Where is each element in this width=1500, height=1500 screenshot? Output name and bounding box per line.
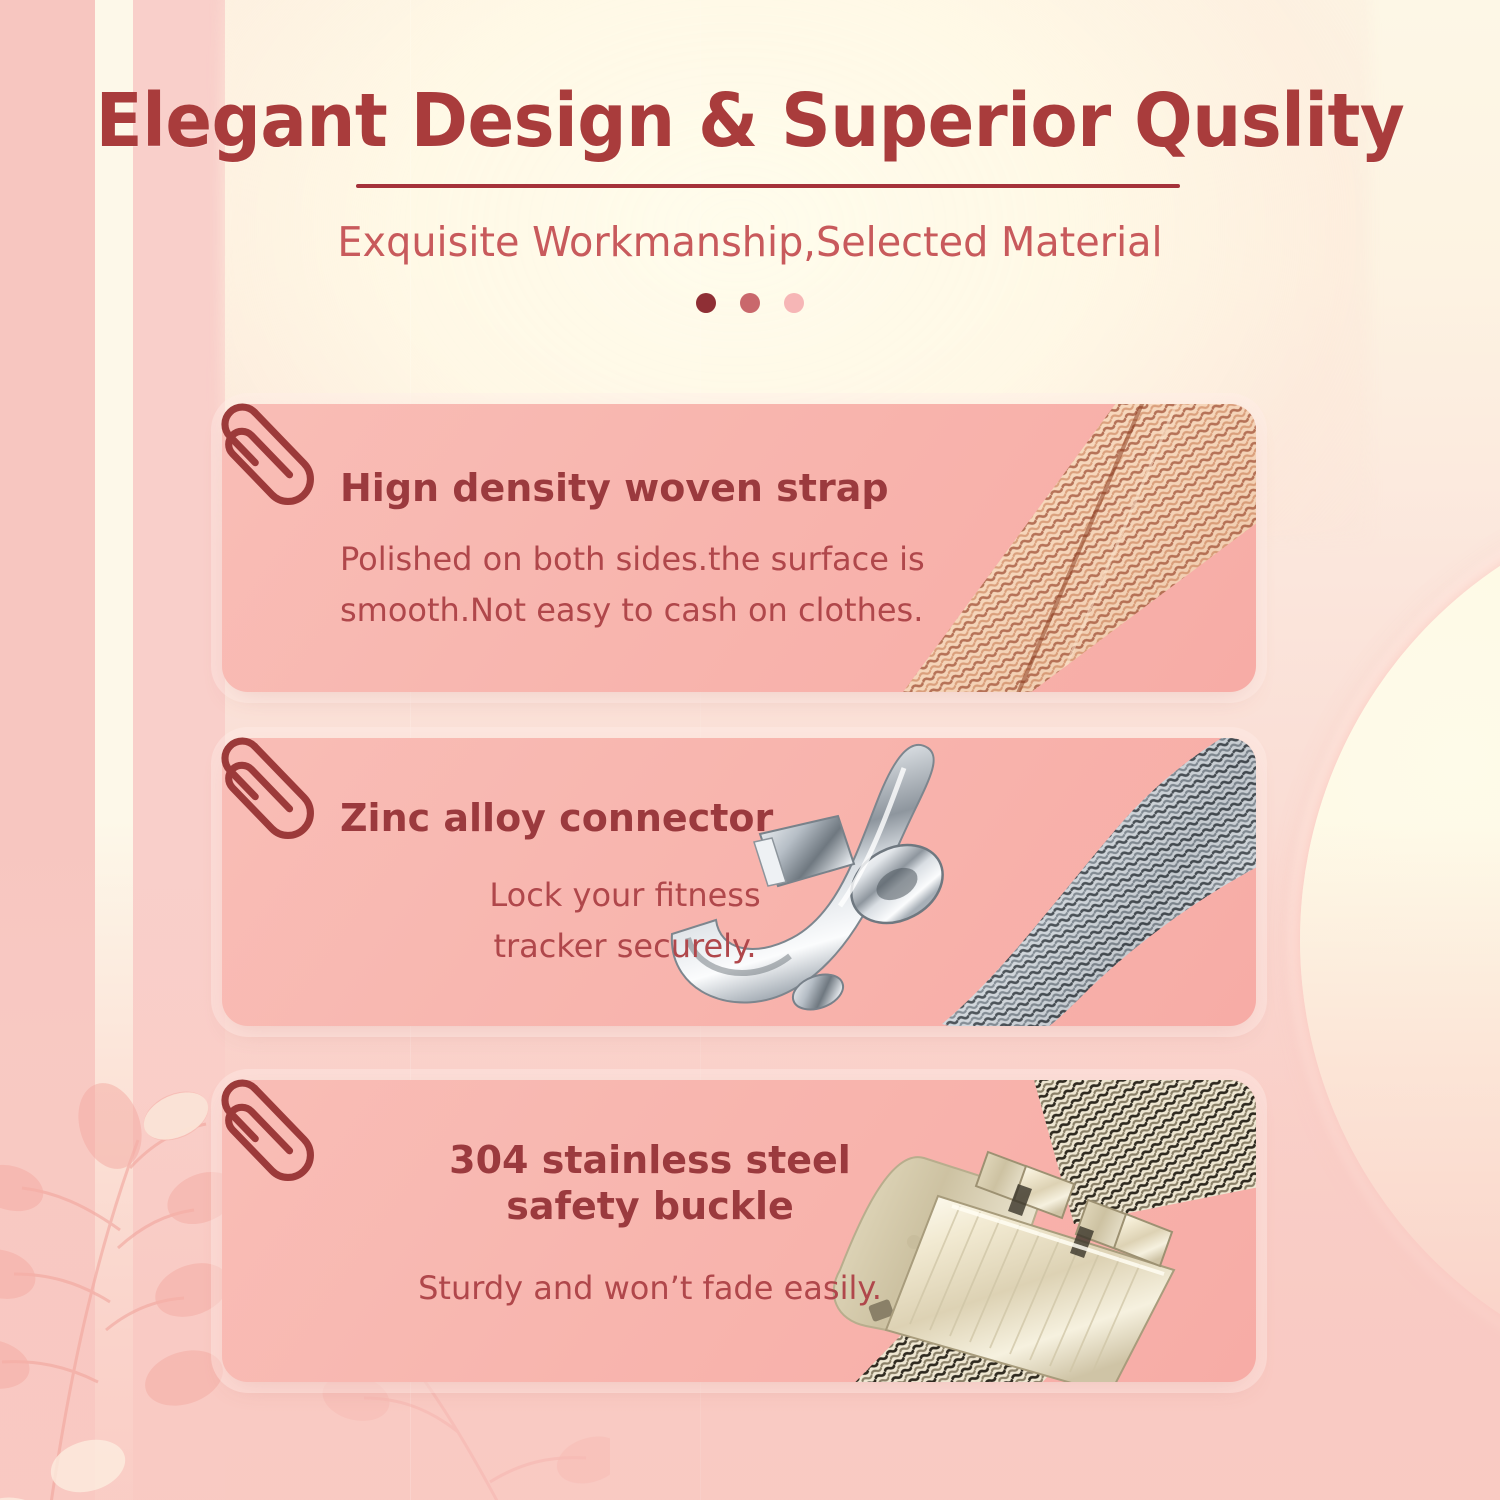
feature-card-heading: 304 stainless steel safety buckle [340, 1138, 960, 1229]
page-title: Elegant Design & Superior Quslity [53, 78, 1448, 164]
feature-card-heading: Hign density woven strap [340, 466, 980, 512]
paperclip-icon [216, 726, 338, 848]
carousel-dot-3[interactable] [784, 293, 804, 313]
feature-card-body: Sturdy and won’t fade easily. [340, 1263, 960, 1314]
feature-card-text: 304 stainless steel safety buckle Sturdy… [340, 1138, 960, 1314]
carousel-dots [0, 293, 1500, 313]
paperclip-icon [216, 1068, 338, 1190]
feature-card-text: Zinc alloy connector Lock your fitness t… [340, 796, 900, 972]
feature-card-zinc-connector: Zinc alloy connector Lock your fitness t… [222, 738, 1256, 1026]
page-subtitle: Exquisite Workmanship,Selected Material [23, 218, 1478, 266]
feature-card-body: Polished on both sides.the surface is sm… [340, 534, 980, 636]
title-divider [356, 184, 1180, 188]
feature-card-woven-strap: Hign density woven strap Polished on bot… [222, 404, 1256, 692]
feature-card-inner: Zinc alloy connector Lock your fitness t… [222, 738, 1256, 1026]
feature-card-inner: 304 stainless steel safety buckle Sturdy… [222, 1080, 1256, 1382]
carousel-dot-active[interactable] [696, 293, 716, 313]
feature-card-text: Hign density woven strap Polished on bot… [340, 466, 980, 636]
feature-card-heading: Zinc alloy connector [340, 796, 900, 842]
paperclip-icon [216, 392, 338, 514]
feature-card-body: Lock your fitness tracker securely. [340, 870, 900, 972]
feature-card-safety-buckle: 304 stainless steel safety buckle Sturdy… [222, 1080, 1256, 1382]
feature-card-inner: Hign density woven strap Polished on bot… [222, 404, 1256, 692]
product-feature-poster: Elegant Design & Superior Quslity Exquis… [0, 0, 1500, 1500]
carousel-dot-2[interactable] [740, 293, 760, 313]
